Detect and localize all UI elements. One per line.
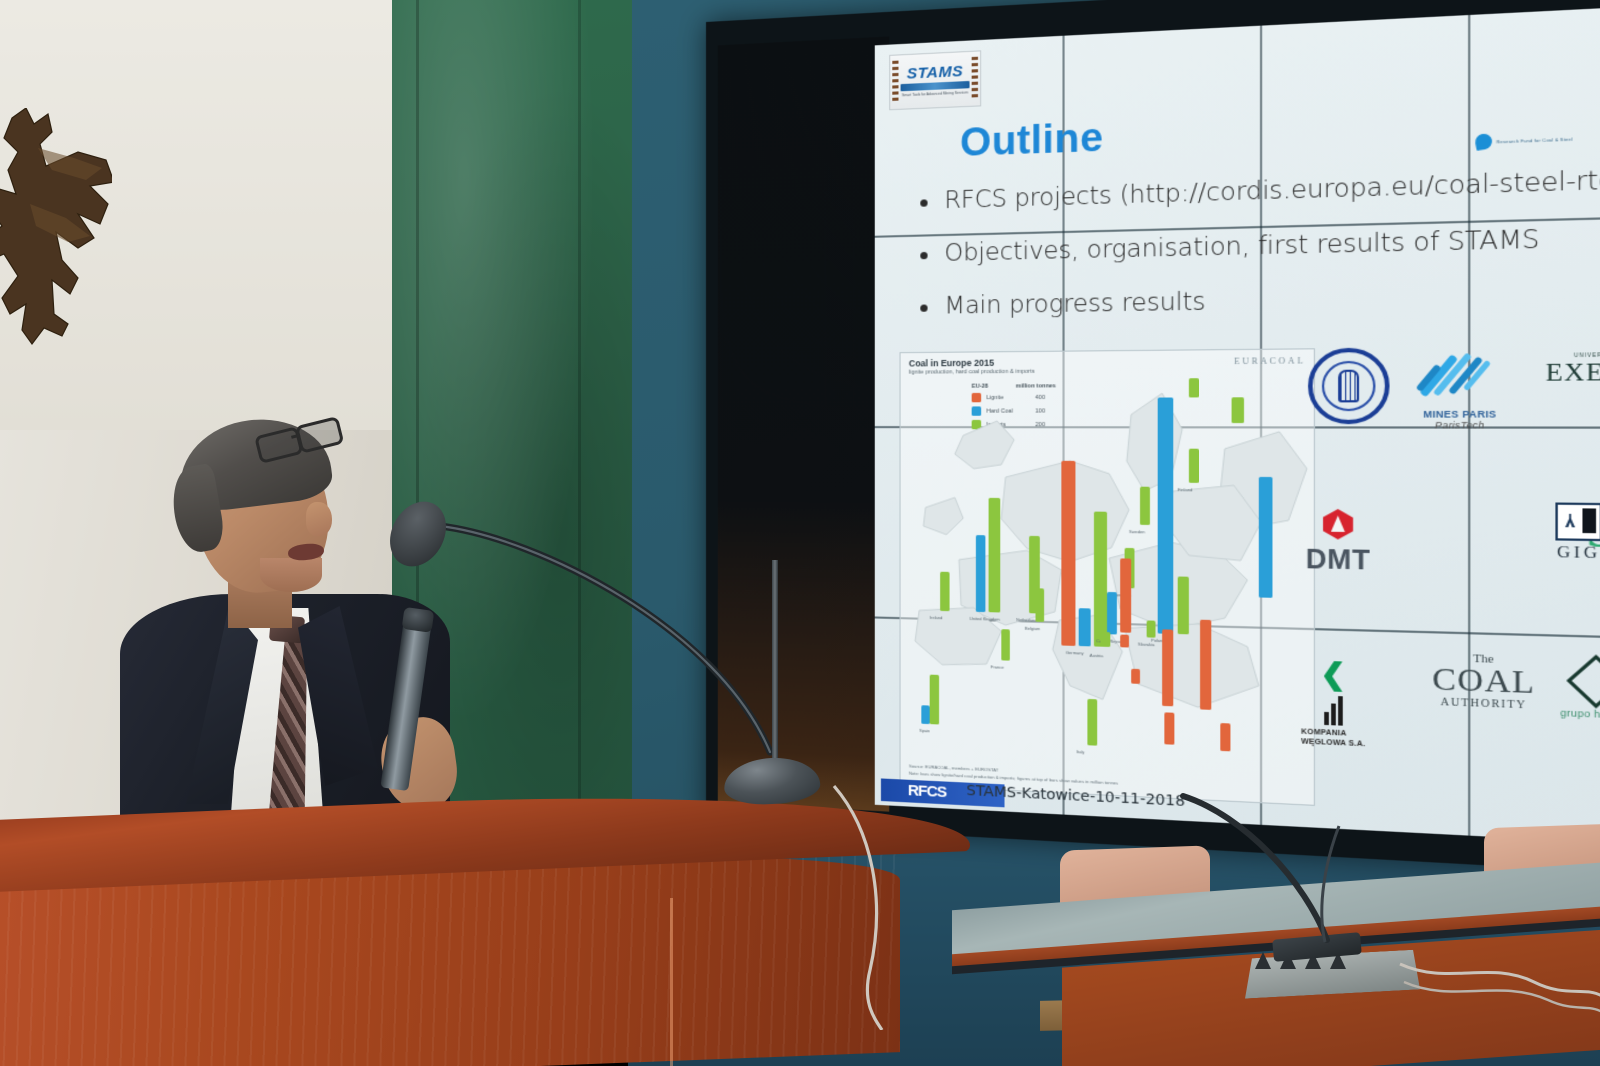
bar-label-austria: Austria [1090, 653, 1104, 659]
kompania-chevron-icon [1324, 661, 1343, 692]
bar-norway-imports [1232, 397, 1244, 423]
gig-label: GIG [1557, 544, 1600, 564]
bar-label-uk: United Kingdom [970, 616, 1000, 622]
logo-gig: GIG [1555, 502, 1600, 563]
mines-swoosh-icon [1423, 347, 1497, 407]
bar-label-belgium: Belgium [1025, 626, 1041, 632]
list-item: Main progress results [920, 278, 1600, 321]
bar-slovenia-lignite [1120, 635, 1129, 648]
bar-label-spain: Spain [919, 728, 930, 734]
bullet-dot-icon [920, 304, 927, 311]
logo-exeter: UNIVERSITY OF EXETER [1546, 352, 1600, 388]
bar-uk-hardcoal [976, 535, 986, 612]
bar-germany-hardcoal [1079, 608, 1091, 646]
kompania-bars-icon [1324, 696, 1343, 726]
mines-paris-label: MINES PARIS [1423, 409, 1496, 420]
bar-hungary-lignite [1131, 669, 1140, 684]
mines-paristech-label: ParisTech [1435, 420, 1485, 431]
list-item: RFCS projects (http://cordis.europa.eu/c… [920, 163, 1600, 217]
bar-sweden-imports [1140, 487, 1150, 525]
logo-dmt: DMT [1306, 509, 1371, 577]
bar-label-italy: Italy [1077, 749, 1085, 755]
bar-label-slovakia: Slovakia [1138, 641, 1155, 647]
bar-label-germany: Germany [1066, 650, 1084, 656]
rfcs-logo-mark-icon [1473, 132, 1493, 150]
glasses-lens-right [295, 416, 344, 454]
bar-italy-imports [1087, 699, 1097, 746]
coal-authority-coal: COAL [1432, 664, 1535, 699]
list-item: Objectives, organisation, first results … [920, 221, 1600, 269]
europe-map [901, 349, 1314, 804]
microphone-cable [826, 780, 956, 1030]
dmt-label: DMT [1306, 544, 1371, 577]
bar-belgium-imports [1036, 588, 1045, 622]
bar-germany-imports [1094, 512, 1107, 647]
bar-greece-lignite [1164, 712, 1174, 744]
slide-title: Outline [960, 116, 1103, 166]
stams-logo: STAMS Smart Tools for Advanced Mining Se… [889, 50, 981, 110]
bar-slovakia-imports [1147, 620, 1156, 637]
bar-russia-hardcoal [1259, 477, 1273, 598]
bar-austria-imports [1100, 632, 1110, 647]
kompania-label: KOMPANIA WĘGLOWA S.A. [1301, 728, 1365, 750]
coal-europe-chart: Coal in Europe 2015 lignite production, … [900, 348, 1315, 806]
bar-finland-imports [1189, 449, 1199, 483]
bar-label-finland: Finland [1178, 487, 1193, 492]
presentation-screen: STAMS Smart Tools for Advanced Mining Se… [875, 4, 1600, 848]
gooseneck-microphone-arm [418, 508, 788, 768]
bar-turkey-lignite [1220, 723, 1230, 751]
bar-spain-hardcoal [921, 705, 929, 724]
bar-spain-imports [930, 675, 939, 725]
agh-seal-icon [1308, 348, 1390, 425]
desk-cables [1398, 956, 1600, 1026]
bar-estonia-imports [1189, 378, 1199, 397]
stams-logo-text: STAMS [907, 64, 963, 82]
slide: STAMS Smart Tools for Advanced Mining Se… [875, 4, 1600, 848]
bar-uk-imports [989, 498, 1001, 613]
stams-logo-ticks-left [892, 61, 898, 104]
bar-czech-hardcoal [1107, 592, 1117, 635]
gig-miner-icon [1565, 514, 1575, 528]
bullet-dot-icon [920, 252, 927, 259]
bar-label-ireland: Ireland [930, 615, 943, 620]
photo-scene: STAMS Smart Tools for Advanced Mining Se… [0, 0, 1600, 1066]
dmt-mark-icon [1323, 509, 1353, 540]
partner-logos: MINES PARIS ParisTech UNIVERSITY OF EXET… [1301, 345, 1600, 822]
bullet-text: Objectives, organisation, first results … [944, 224, 1539, 268]
bar-poland-lignite [1120, 558, 1131, 632]
bullet-dot-icon [920, 199, 927, 206]
logo-hunosa: grupo hunosa [1560, 661, 1600, 721]
rfcs-logo-text: Research Fund for Coal & Steel [1496, 136, 1572, 144]
stams-logo-ticks-right [972, 57, 978, 101]
gooseneck-microphone-stem [772, 560, 778, 770]
logo-mines-paris: MINES PARIS ParisTech [1423, 347, 1497, 431]
bar-label-sweden: Sweden [1129, 529, 1145, 535]
gig-block-icon [1582, 508, 1596, 533]
speaker-nose [306, 502, 332, 536]
rfcs-logo: Research Fund for Coal & Steel [1475, 131, 1573, 150]
bar-ireland-imports [940, 572, 949, 611]
kompania-line1: KOMPANIA [1301, 728, 1346, 737]
speaker-chin [260, 558, 322, 592]
video-wall: STAMS Smart Tools for Advanced Mining Se… [706, 0, 1600, 878]
bar-poland-hardcoal [1158, 398, 1174, 634]
hunosa-label: grupo hunosa [1560, 707, 1600, 721]
podium-seam [670, 898, 673, 1066]
bar-romania-lignite [1162, 629, 1173, 706]
logo-agh [1308, 348, 1390, 425]
hunosa-diamond-icon [1567, 655, 1600, 709]
bullet-text: Main progress results [944, 287, 1205, 321]
coal-authority-authority: AUTHORITY [1440, 696, 1527, 711]
gig-mark-icon [1555, 502, 1600, 541]
bar-label-france: France [991, 664, 1004, 670]
logo-kompania-weglowa: KOMPANIA WĘGLOWA S.A. [1301, 660, 1365, 750]
bar-france-imports [1001, 629, 1010, 661]
exeter-label: EXETER [1546, 357, 1600, 387]
agh-lamp-icon [1338, 370, 1359, 403]
slide-bullet-list: RFCS projects (http://cordis.europa.eu/c… [920, 163, 1600, 344]
stams-logo-subtitle: Smart Tools for Advanced Mining Services [902, 90, 968, 97]
bullet-text: RFCS projects (http://cordis.europa.eu/c… [944, 165, 1600, 216]
polish-eagle-emblem [0, 108, 112, 358]
kompania-line2: WĘGLOWA S.A. [1301, 738, 1365, 748]
logo-coal-authority: The COAL AUTHORITY [1432, 651, 1535, 711]
bar-bulgaria-lignite [1200, 620, 1211, 710]
conference-microphone-gooseneck [1175, 790, 1435, 950]
bar-germany-lignite [1061, 461, 1075, 646]
bar-poland-imports [1178, 576, 1189, 634]
